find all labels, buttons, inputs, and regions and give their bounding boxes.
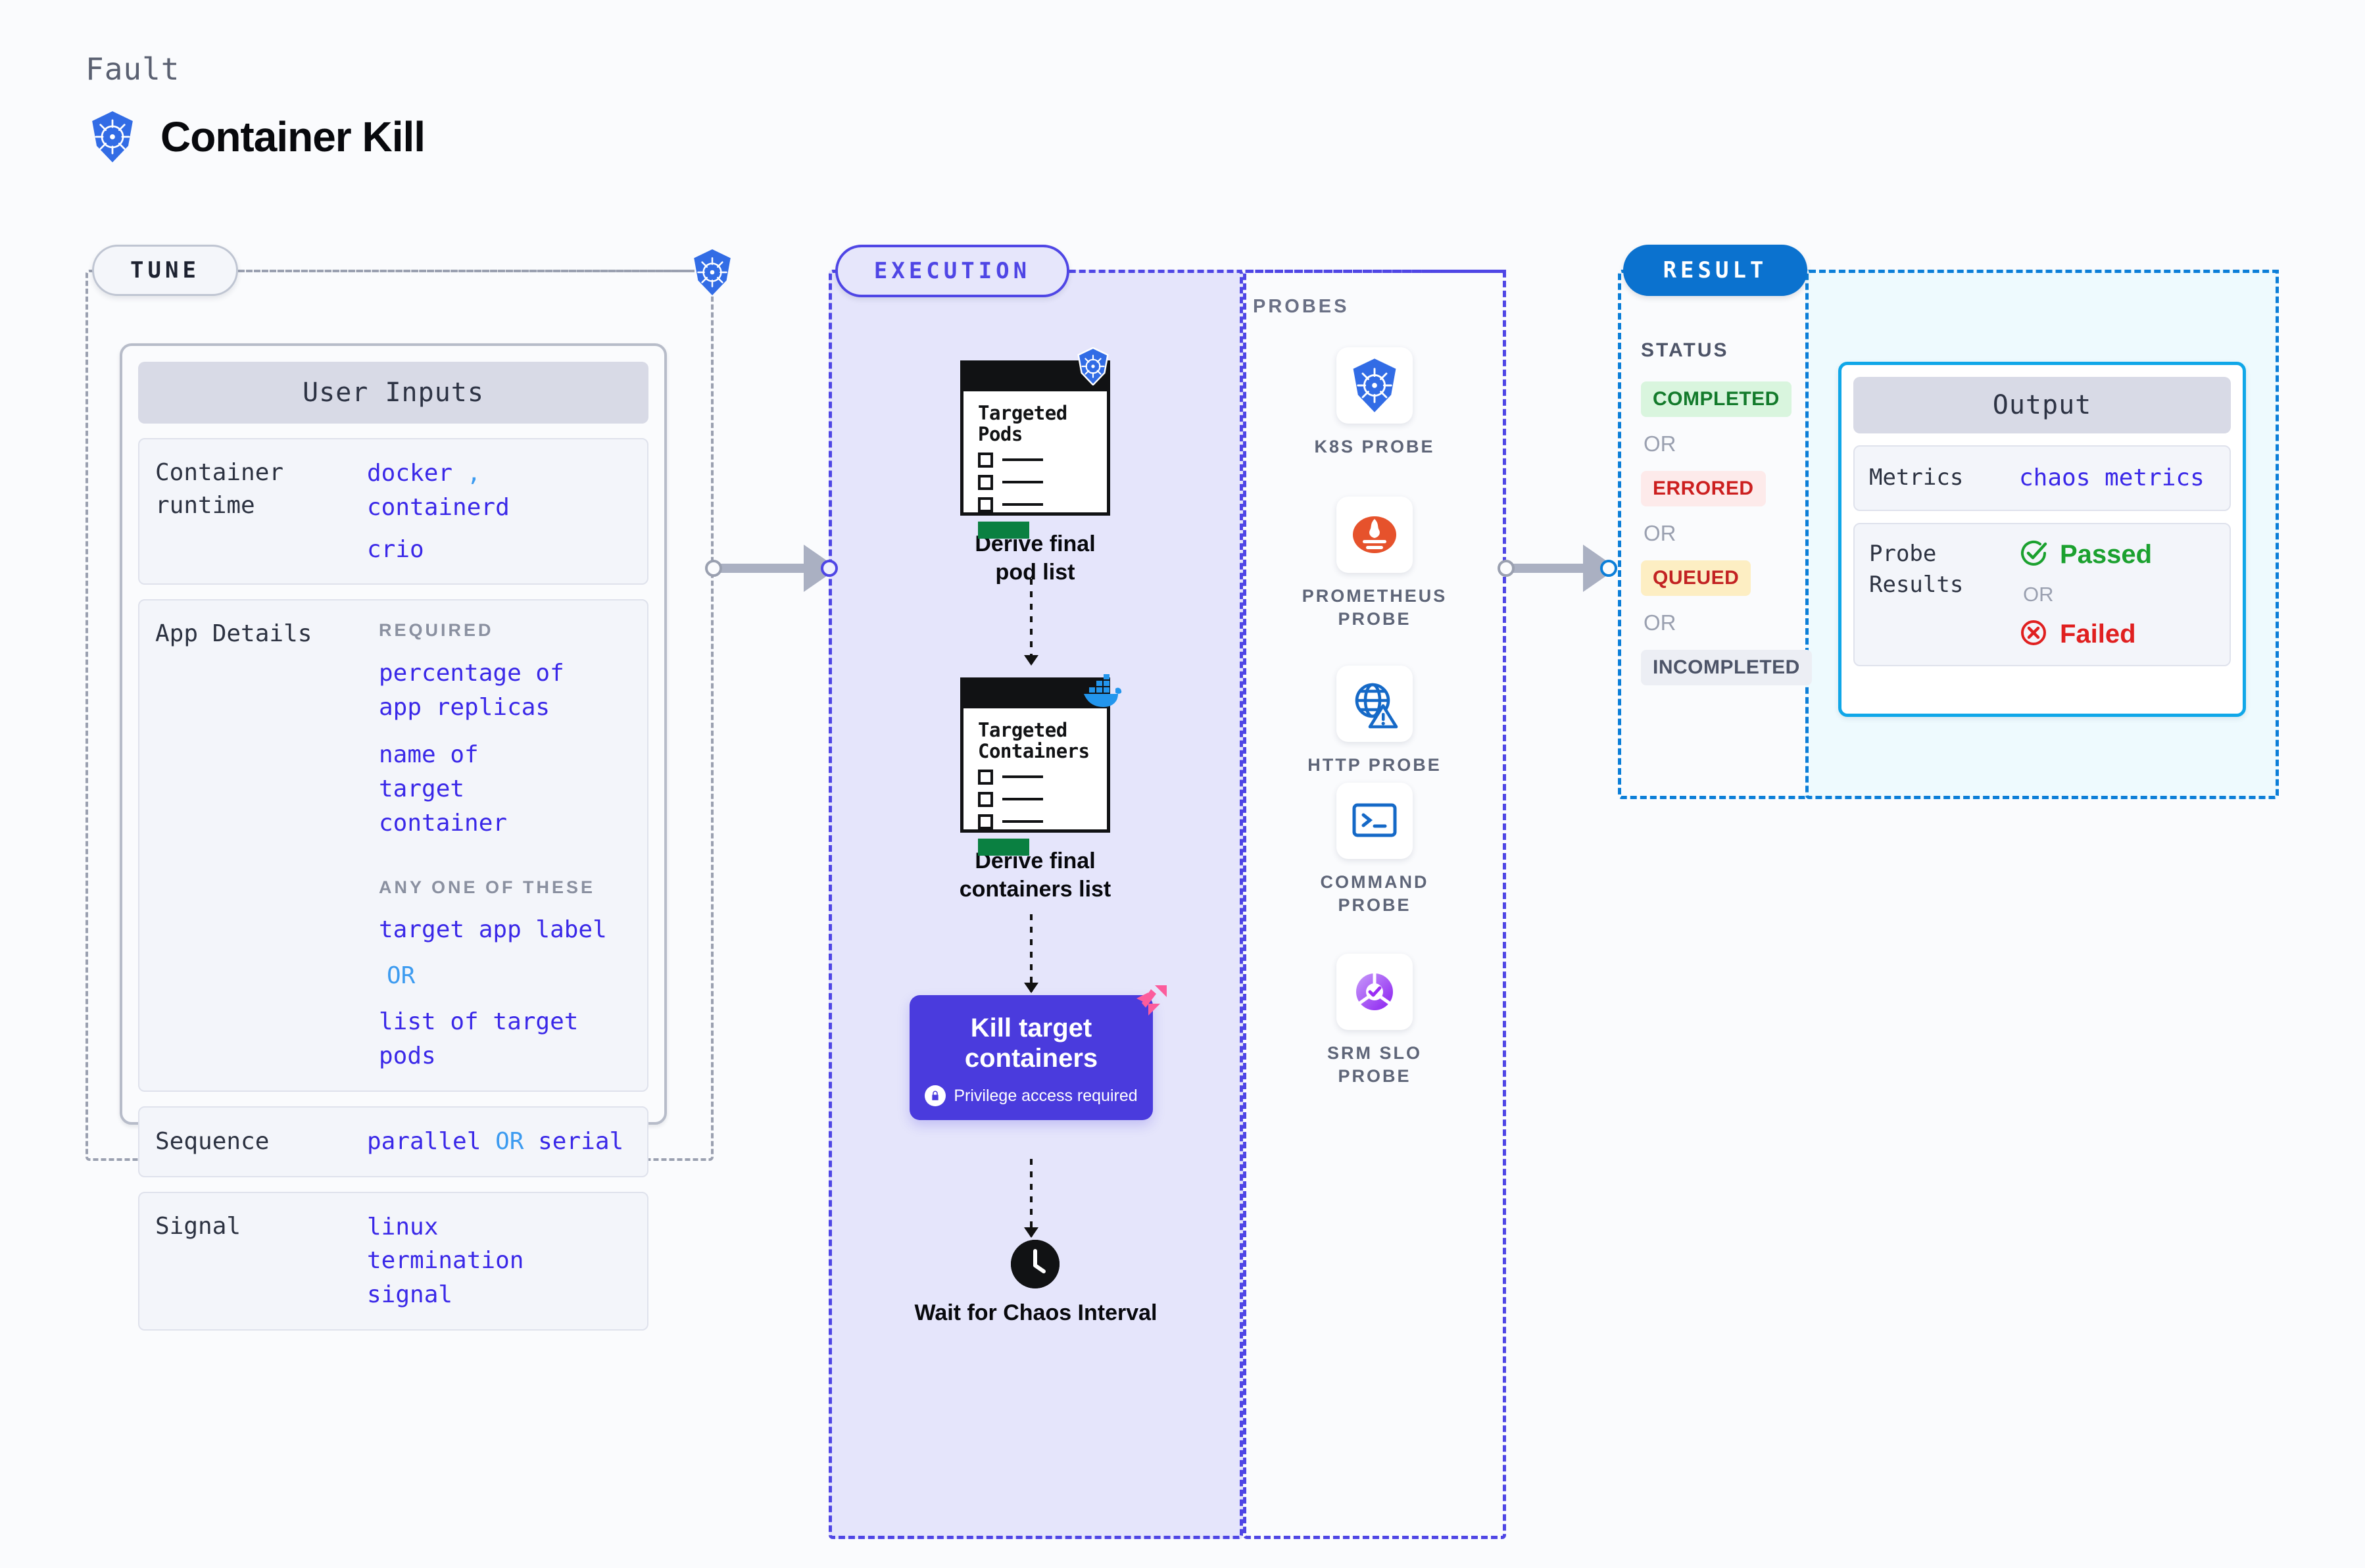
value-comma: , xyxy=(467,460,481,487)
anyone-item-1: list of target pods xyxy=(379,1005,631,1073)
probe-srm-slo[interactable]: SRM SLO PROBE xyxy=(1289,954,1460,1087)
row-metrics: Metrics chaos metrics xyxy=(1853,445,2231,511)
probe-label-command: COMMAND PROBE xyxy=(1289,871,1460,916)
probe-result-failed: Failed xyxy=(2019,618,2152,650)
green-bar xyxy=(978,839,1029,856)
kill-target-title: Kill target containers xyxy=(910,1014,1153,1073)
probe-http[interactable]: HTTP PROBE xyxy=(1289,666,1460,777)
list-dash xyxy=(1002,820,1043,823)
probe-result-passed: Passed xyxy=(2019,539,2152,571)
kubernetes-icon xyxy=(88,110,137,163)
list-dash xyxy=(1002,798,1043,800)
anyone-label: ANY ONE OF THESE xyxy=(379,875,631,900)
x-circle-icon xyxy=(2019,618,2048,650)
connector-dot-end xyxy=(821,560,838,577)
anyone-item-0: target app label xyxy=(379,913,631,947)
probe-label-srm-slo: SRM SLO PROBE xyxy=(1289,1042,1460,1087)
prometheus-icon xyxy=(1336,497,1413,573)
srm-slo-icon xyxy=(1336,954,1413,1030)
checkbox-icon xyxy=(978,770,993,785)
status-badge-completed: COMPLETED xyxy=(1641,381,1792,417)
sequence-parallel: parallel xyxy=(367,1128,481,1155)
green-bar xyxy=(978,522,1029,539)
value-crio: crio xyxy=(367,533,631,567)
list-dash xyxy=(1002,481,1043,483)
status-badge-incompleted: INCOMPLETED xyxy=(1641,650,1812,685)
litmus-icon xyxy=(1131,981,1172,1025)
probe-prometheus[interactable]: PROMETHEUS PROBE xyxy=(1289,497,1460,630)
checkbox-icon xyxy=(978,453,993,468)
kubernetes-icon xyxy=(1075,347,1111,389)
sequence-serial: serial xyxy=(538,1128,623,1155)
privilege-note-row: Privilege access required xyxy=(910,1085,1153,1106)
fault-title-row: Container Kill xyxy=(88,110,425,163)
output-card-header: Output xyxy=(1853,377,2231,433)
connector-bar xyxy=(719,564,805,573)
flow-arrow-1 xyxy=(1030,579,1033,664)
card-body: Targeted Pods xyxy=(963,391,1107,539)
card-body: Targeted Containers xyxy=(963,708,1107,856)
probe-k8s[interactable]: K8S PROBE xyxy=(1289,347,1460,458)
list-dash xyxy=(1002,458,1043,461)
probe-passed-label: Passed xyxy=(2060,540,2152,570)
connector-tune-to-execution xyxy=(705,545,838,592)
checkbox-icon xyxy=(978,792,993,807)
output-card: Output Metrics chaos metrics Probe Resul… xyxy=(1838,362,2246,717)
row-value-probe-results: Passed OR Failed xyxy=(2019,539,2152,650)
row-value-signal: linux termination signal xyxy=(367,1210,558,1312)
status-or-2: OR xyxy=(1644,521,1799,546)
probe-failed-label: Failed xyxy=(2060,620,2136,649)
status-badge-errored: ERRORED xyxy=(1641,471,1766,506)
targeted-containers-title: Targeted Containers xyxy=(978,720,1107,762)
flow-arrow-2 xyxy=(1030,914,1033,992)
privilege-note-text: Privilege access required xyxy=(954,1087,1137,1106)
checkbox-icon xyxy=(978,814,993,829)
row-signal: Signal linux termination signal xyxy=(138,1192,648,1331)
list-dash xyxy=(1002,775,1043,778)
required-item-0: percentage of app replicas xyxy=(379,656,576,725)
status-or-3: OR xyxy=(1644,610,1799,635)
kubernetes-icon xyxy=(1336,347,1413,424)
value-containerd: containerd xyxy=(367,494,510,521)
probe-result-or: OR xyxy=(2023,583,2152,606)
lock-icon xyxy=(925,1085,946,1106)
required-item-1: name of target container xyxy=(379,738,576,840)
user-inputs-header: User Inputs xyxy=(138,362,648,424)
row-value-sequence: parallel OR serial xyxy=(367,1125,623,1159)
status-section-label: STATUS xyxy=(1641,339,1729,362)
value-docker: docker xyxy=(367,460,452,487)
status-list: COMPLETED OR ERRORED OR QUEUED OR INCOMP… xyxy=(1641,381,1799,685)
row-key-probe-results: Probe Results xyxy=(1869,539,2019,650)
caption-wait-for-chaos-interval: Wait for Chaos Interval xyxy=(914,1299,1158,1327)
execution-pill[interactable]: EXECUTION xyxy=(835,245,1069,297)
diagram-canvas: Fault Container Kill TU xyxy=(0,0,2365,1568)
checkbox-icon xyxy=(978,497,993,512)
connector-bar xyxy=(1512,564,1584,573)
check-circle-icon xyxy=(2019,539,2048,571)
connector-execution-to-result xyxy=(1498,545,1617,592)
globe-warning-icon xyxy=(1336,666,1413,742)
row-value-app-details: REQUIRED percentage of app replicas name… xyxy=(367,618,631,1073)
docker-icon xyxy=(1079,674,1122,712)
row-key-sequence: Sequence xyxy=(155,1125,367,1158)
terminal-icon xyxy=(1336,783,1413,859)
required-label: REQUIRED xyxy=(379,618,631,643)
row-key-metrics: Metrics xyxy=(1869,462,2019,493)
row-value-container-runtime: docker , containerd crio xyxy=(367,456,631,566)
user-inputs-card: User Inputs Container runtime docker , c… xyxy=(120,343,667,1125)
clock-icon xyxy=(1011,1240,1060,1288)
result-pill[interactable]: RESULT xyxy=(1623,245,1807,296)
kubernetes-icon xyxy=(691,249,734,299)
status-or-1: OR xyxy=(1644,431,1799,456)
sequence-or: OR xyxy=(495,1128,524,1155)
probe-label-k8s: K8S PROBE xyxy=(1289,435,1460,458)
node-targeted-pods: Targeted Pods Derive final pod list xyxy=(956,360,1114,586)
anyone-or: OR xyxy=(379,959,631,993)
status-badge-queued: QUEUED xyxy=(1641,560,1751,596)
checkbox-icon xyxy=(978,475,993,490)
row-key-signal: Signal xyxy=(155,1210,367,1312)
row-sequence: Sequence parallel OR serial xyxy=(138,1106,648,1177)
page-title: Container Kill xyxy=(160,112,425,161)
flow-arrow-3 xyxy=(1030,1159,1033,1237)
probe-command[interactable]: COMMAND PROBE xyxy=(1289,783,1460,916)
row-app-details: App Details REQUIRED percentage of app r… xyxy=(138,599,648,1091)
row-key-container-runtime: Container runtime xyxy=(155,456,367,566)
kill-target-containers-node[interactable]: Kill target containers Privilege access … xyxy=(910,995,1153,1120)
fault-eyebrow-label: Fault xyxy=(85,51,180,87)
row-value-metrics: chaos metrics xyxy=(2019,461,2205,495)
list-dash xyxy=(1002,503,1043,506)
probe-label-http: HTTP PROBE xyxy=(1289,754,1460,777)
targeted-pods-title: Targeted Pods xyxy=(978,403,1107,445)
connector-dot-end xyxy=(1600,560,1617,577)
probe-label-prometheus: PROMETHEUS PROBE xyxy=(1289,585,1460,630)
tune-panel: User Inputs Container runtime docker , c… xyxy=(85,270,714,1161)
tune-pill[interactable]: TUNE xyxy=(92,245,238,296)
connector-dot-start xyxy=(705,560,722,577)
row-probe-results: Probe Results Passed OR xyxy=(1853,523,2231,666)
row-key-app-details: App Details xyxy=(155,618,367,1073)
row-container-runtime: Container runtime docker , containerd cr… xyxy=(138,438,648,585)
connector-dot-start xyxy=(1498,560,1515,577)
probes-section-label: PROBES xyxy=(1253,296,1349,318)
